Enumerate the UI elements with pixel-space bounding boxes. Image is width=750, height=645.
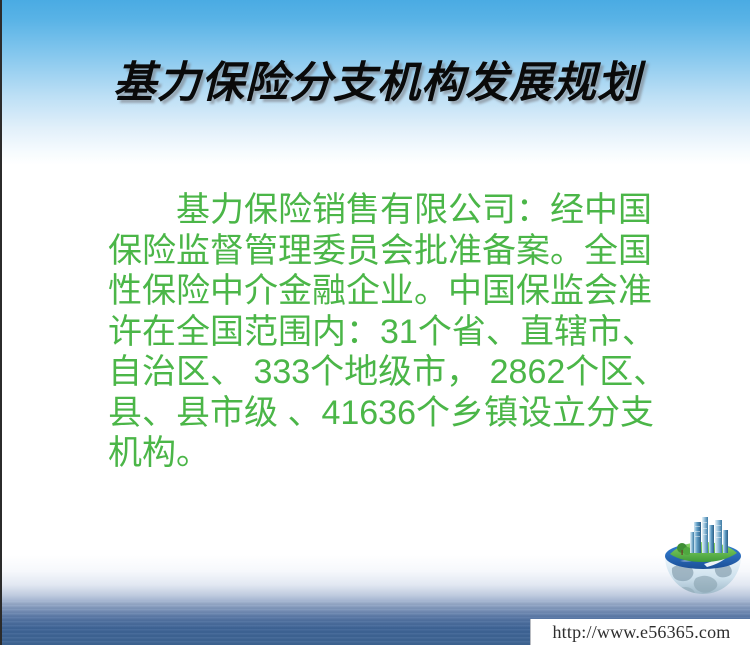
earth-city-globe-icon (660, 508, 746, 600)
body-line-5: 自治区、 333个地级市， 2862个区、 (108, 352, 656, 393)
body-line-1-text: 基力保险销售有限公司：经中国 (176, 191, 652, 229)
body-line-3: 性保险中介金融企业。中国保监会准 (108, 271, 656, 312)
body-line-4: 许在全国范围内：31个省、直辖市、 (108, 312, 656, 353)
body-line-2: 保险监督管理委员会批准备案。全国 (108, 231, 656, 272)
watermark-url: http://www.e56365.com (552, 622, 730, 643)
body-line-7: 机构。 (108, 433, 656, 474)
slide-title: 基力保险分支机构发展规划 (2, 52, 750, 114)
slide-body-text: 基力保险销售有限公司：经中国 保险监督管理委员会批准备案。全国 性保险中介金融企… (108, 190, 656, 474)
body-line-6: 县、县市级 、41636个乡镇设立分支 (108, 393, 656, 434)
body-line-1: 基力保险销售有限公司：经中国 (108, 190, 656, 231)
presentation-slide: 基力保险分支机构发展规划 基力保险销售有限公司：经中国 保险监督管理委员会批准备… (0, 0, 750, 645)
watermark-badge: http://www.e56365.com (530, 619, 750, 645)
